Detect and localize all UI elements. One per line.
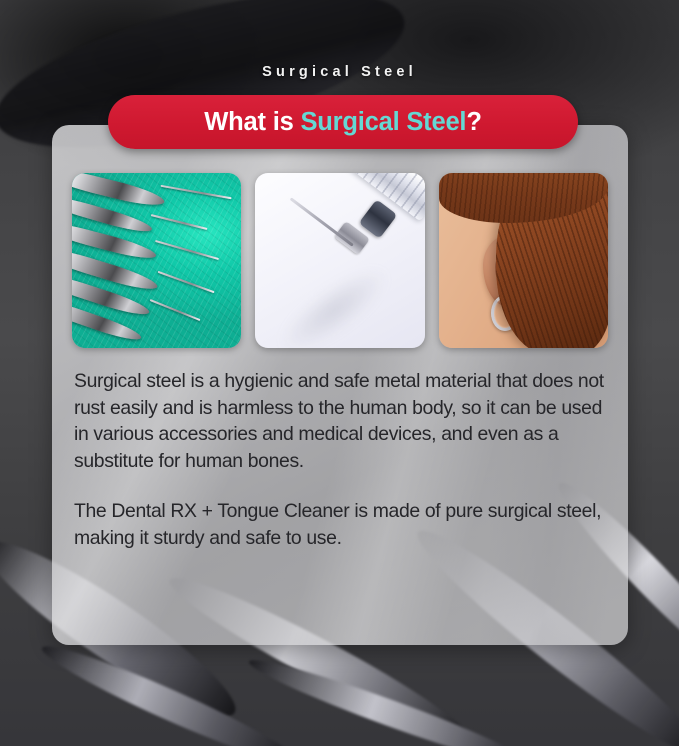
paragraph-definition: Surgical steel is a hygienic and safe me… <box>74 368 609 474</box>
thumbnail-syringe <box>255 173 424 348</box>
title-pill: What is Surgical Steel? <box>108 95 578 149</box>
content-panel: Surgical steel is a hygienic and safe me… <box>52 125 628 645</box>
syringe-plunger <box>358 199 397 239</box>
syringe-shadow <box>269 254 400 348</box>
kicker-label: Surgical Steel <box>0 64 679 80</box>
body-copy: Surgical steel is a hygienic and safe me… <box>74 368 609 551</box>
title-prefix: What is <box>204 108 300 136</box>
infographic-card: Surgical Steel <box>0 0 679 746</box>
syringe-needle <box>290 197 354 246</box>
paragraph-product: The Dental RX + Tongue Cleaner is made o… <box>74 498 609 551</box>
thumbnail-ear-earring <box>439 173 608 348</box>
title-highlight: Surgical Steel <box>300 108 466 136</box>
thumbnail-row <box>72 173 608 348</box>
title-question-mark: ? <box>466 108 481 136</box>
page-title: What is Surgical Steel? <box>204 108 481 137</box>
thumbnail-dental-instruments <box>72 173 241 348</box>
